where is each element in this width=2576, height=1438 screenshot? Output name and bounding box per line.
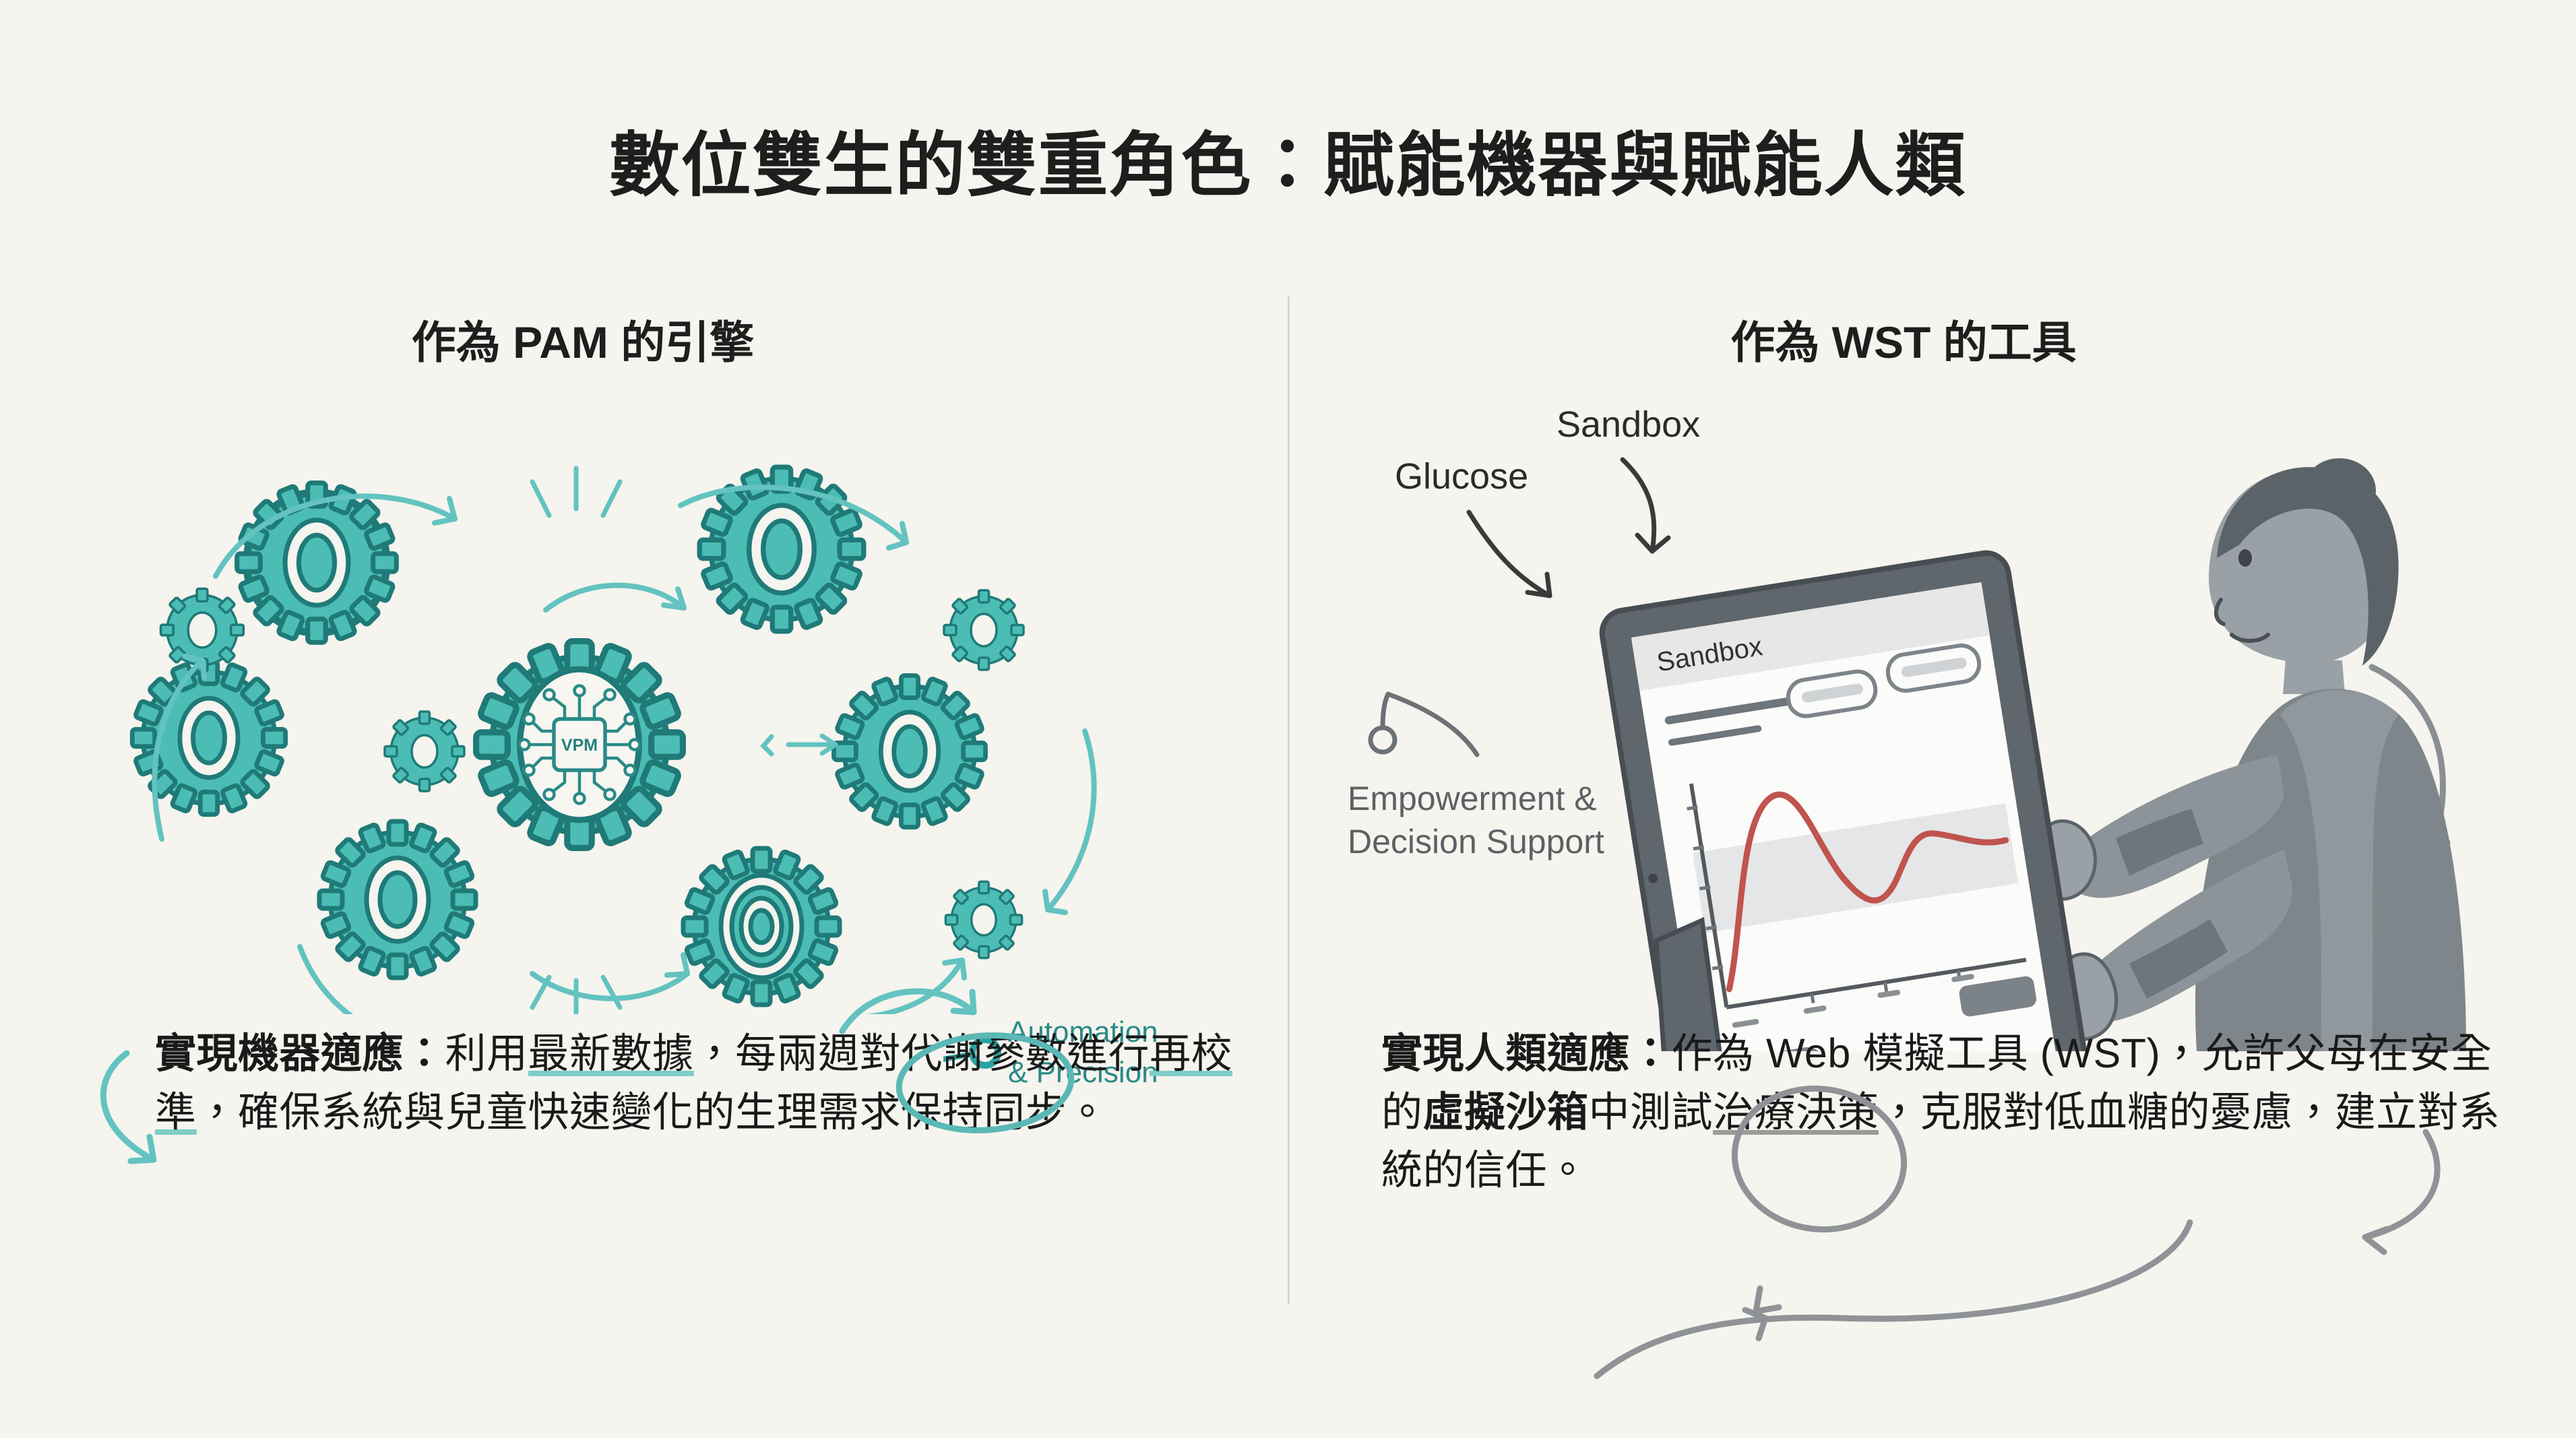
right-column-subtitle: 作為 WST 的工具	[1287, 307, 2520, 371]
left-caption-body3: 對代謝參數進行	[860, 1030, 1150, 1076]
gear-icon	[204, 450, 430, 676]
gear-icon	[928, 574, 1040, 687]
right-caption-lead: 實現人類適應：	[1381, 1030, 1672, 1076]
feedback-loop-annotation	[1422, 1206, 2311, 1402]
vpm-chip-label: VPM	[561, 736, 598, 755]
empowerment-label-line2: Decision Support	[1348, 823, 1604, 861]
left-caption-body4: ，確保系統與兒童快速變化的生理需求保持同步。	[197, 1089, 1108, 1135]
left-column-subtitle: 作為 PAM 的引擎	[0, 307, 1199, 371]
left-caption-circled-biweekly: 每兩週	[735, 1030, 860, 1076]
glucose-arrow-icon	[1469, 512, 1550, 596]
glucose-label: Glucose	[1395, 456, 1528, 497]
left-caption-body2: ，	[694, 1030, 736, 1076]
empowerment-pointer-icon	[1371, 694, 1477, 755]
curved-arrow-icon	[103, 1053, 154, 1161]
gear-icon	[651, 816, 872, 1014]
left-column: 作為 PAM 的引擎	[40, 290, 1274, 1368]
left-caption-lead: 實現機器適應：	[155, 1030, 445, 1076]
left-caption-highlight-latest-data: 最新數據	[528, 1030, 694, 1076]
parent-tablet-illustration: Glucose Sandbox Empowerment & Decision S…	[1321, 377, 2507, 1051]
page-title: 數位雙生的雙重角色：賦能機器與賦能人類	[0, 108, 2576, 210]
gear-icon	[287, 789, 508, 1010]
right-caption-circled-sandbox: 虛擬沙箱	[1423, 1089, 1589, 1135]
left-caption-body1: 利用	[445, 1030, 528, 1076]
left-caption: 實現機器適應：利用最新數據，每兩週對代謝參數進行再校準，確保系統與兒童快速變化的…	[155, 1024, 1260, 1141]
sandbox-arrow-icon	[1623, 460, 1668, 551]
right-caption-highlight-treatment-decisions: 治療決策	[1713, 1089, 1879, 1135]
gear-icon	[666, 433, 898, 666]
gear-icon	[930, 866, 1038, 974]
sandbox-label: Sandbox	[1557, 404, 1700, 445]
gear-icon	[803, 644, 1017, 858]
right-caption: 實現人類適應：作為 Web 模擬工具 (WST)，允許父母在安全的虛擬沙箱中測試…	[1381, 1024, 2513, 1199]
gear-icon	[369, 695, 481, 808]
curved-arrow-icon	[1597, 1222, 2190, 1376]
gear-cluster-illustration: VPM	[115, 408, 1226, 1014]
column-divider	[1288, 296, 1290, 1304]
empowerment-label-line1: Empowerment &	[1348, 780, 1597, 817]
right-column: 作為 WST 的工具 Glucose Sandbox Empowerment &	[1300, 290, 2534, 1368]
right-caption-body2: 中測試	[1589, 1089, 1714, 1135]
